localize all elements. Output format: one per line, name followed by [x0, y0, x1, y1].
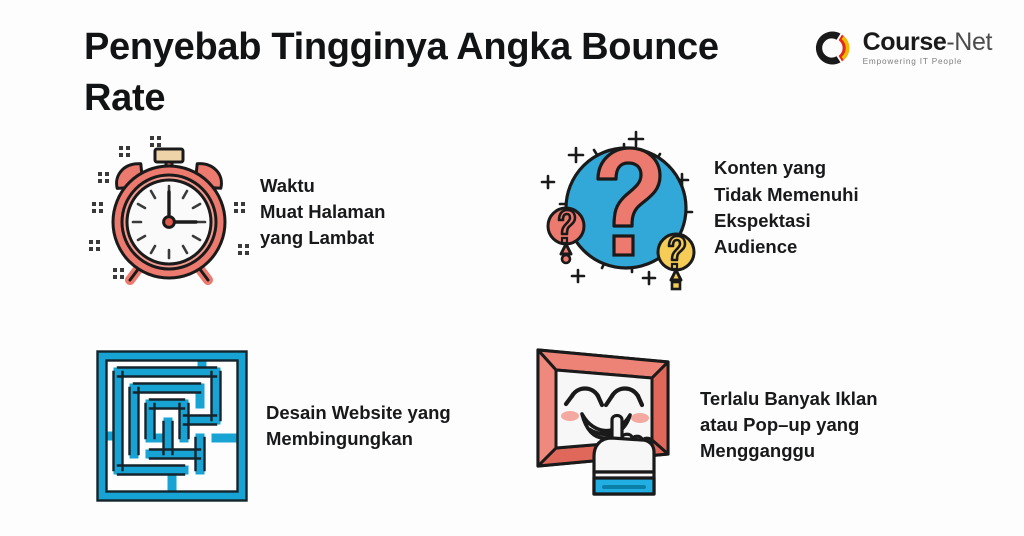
brand-tagline: Empowering IT People [863, 58, 992, 66]
card-label: Desain Website yang Membingungkan [266, 400, 451, 453]
brand-name-light: -Net [946, 28, 992, 56]
header: Penyebab Tingginya Angka Bounce Rate Cou… [0, 0, 1024, 126]
question-mark-icon [536, 126, 706, 291]
card-confusing-website-design: Desain Website yang Membingungkan [86, 336, 506, 516]
card-label: Terlalu Banyak Iklan atau Pop–up yang Me… [700, 386, 878, 465]
course-net-logo-icon [812, 28, 852, 68]
brand-name-strong: Course [863, 28, 947, 56]
brand-logo: Course-Net Empowering IT People [812, 28, 992, 68]
brand-wordmark: Course-Net Empowering IT People [863, 30, 992, 67]
brand-name: Course-Net [863, 30, 992, 56]
card-too-many-ads-popups: Terlalu Banyak Iklan atau Pop–up yang Me… [516, 330, 996, 520]
card-label: Konten yang Tidak Memenuhi Ekspektasi Au… [714, 155, 859, 260]
alarm-clock-icon [86, 132, 256, 292]
causes-grid: Waktu Muat Halaman yang Lambat [0, 118, 1024, 536]
maze-icon [92, 346, 252, 506]
card-slow-page-load: Waktu Muat Halaman yang Lambat [86, 122, 506, 302]
page-title: Penyebab Tingginya Angka Bounce Rate [84, 22, 784, 123]
popup-ad-icon [516, 338, 696, 513]
card-label: Waktu Muat Halaman yang Lambat [260, 173, 385, 252]
card-content-not-meeting-expectations: Konten yang Tidak Memenuhi Ekspektasi Au… [536, 118, 996, 298]
